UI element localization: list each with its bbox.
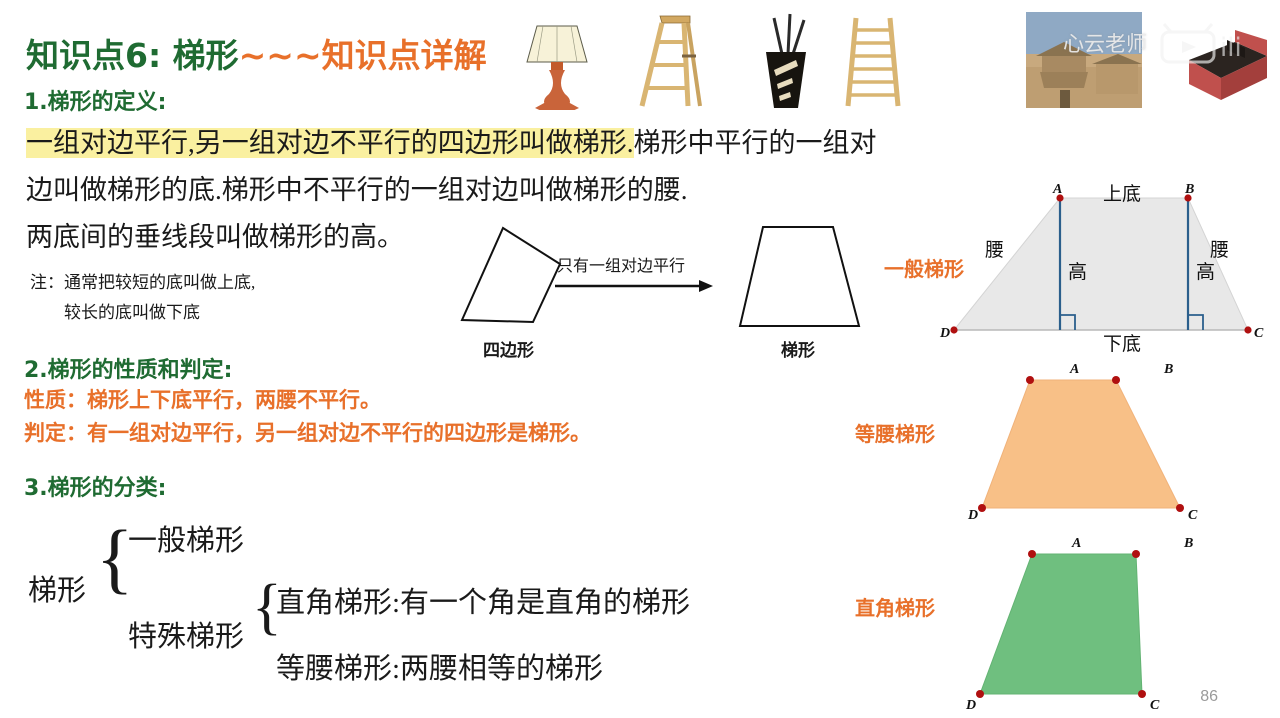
quadrilateral-figure — [455, 222, 605, 332]
page-number: 86 — [1200, 688, 1218, 706]
height-label-right: 高 — [1196, 257, 1215, 284]
vertex-label-b-gray: B — [1185, 182, 1194, 198]
tree-sub-right: 直角梯形:有一个角是直角的梯形 — [276, 579, 690, 621]
page-title: 知识点6: 梯形~~~知识点详解 — [26, 29, 487, 77]
definition-line-2: 边叫做梯形的底.梯形中不平行的一组对边叫做梯形的腰. — [26, 177, 688, 204]
property-line: 性质：梯形上下底平行，两腰不平行。 — [24, 384, 381, 414]
quadrilateral-caption: 四边形 — [483, 336, 534, 361]
watermark-text: 心云老师 — [1063, 28, 1147, 58]
vertex-label-a-orange: A — [1070, 362, 1079, 378]
note-line-2: 较长的底叫做下底 — [64, 298, 200, 323]
vertex-label-d-green: D — [966, 698, 976, 714]
isosceles-trapezoid-label: 等腰梯形 — [855, 418, 935, 447]
tree-branch-special: 特殊梯形 — [128, 613, 244, 655]
page-title-green: 知识点6: 梯形 — [26, 36, 239, 75]
table-lamp-photo — [513, 8, 601, 110]
tree-sub-isosceles: 等腰梯形:两腰相等的梯形 — [276, 645, 603, 687]
trapezoid-caption: 梯形 — [781, 336, 815, 361]
step-ladder-photo — [632, 10, 708, 110]
vertex-label-b-green: B — [1184, 536, 1193, 552]
vertex-label-c-green: C — [1150, 698, 1159, 714]
vertex-label-d-orange: D — [968, 508, 978, 524]
trapezoid-figure — [735, 222, 870, 334]
section-2-heading: 2.梯形的性质和判定: — [24, 352, 232, 384]
bottom-base-label: 下底 — [1103, 329, 1141, 356]
definition-line-1: 一组对边平行,另一组对边不平行的四边形叫做梯形.梯形中平行的一组对 — [26, 130, 877, 157]
top-base-label: 上底 — [1103, 179, 1141, 206]
vertex-label-d-gray: D — [940, 326, 950, 342]
vertex-label-a-green: A — [1072, 536, 1081, 552]
vertex-label-b-orange: B — [1164, 362, 1173, 378]
isosceles-trapezoid-figure — [948, 358, 1280, 522]
ladder-photo — [838, 10, 908, 110]
height-label-left: 高 — [1068, 257, 1087, 284]
note-line-1: 注：通常把较短的底叫做上底, — [30, 268, 255, 293]
svg-text:ili: ili — [1220, 33, 1242, 63]
classification-tree: 梯形 { 一般梯形 特殊梯形 { 直角梯形:有一个角是直角的梯形 等腰梯形:两腰… — [24, 505, 724, 705]
definition-highlight: 一组对边平行,另一组对边不平行的四边形叫做梯形. — [26, 128, 634, 158]
leg-label-left: 腰 — [985, 235, 1004, 262]
section-3-heading: 3.梯形的分类: — [24, 470, 166, 502]
definition-line-1-rest: 梯形中平行的一组对 — [634, 128, 877, 158]
right-trapezoid-label: 直角梯形 — [855, 592, 935, 621]
criterion-line: 判定：有一组对边平行，另一组对边不平行的四边形是梯形。 — [24, 417, 591, 447]
arrow-label: 只有一组对边平行 — [557, 252, 685, 276]
vertex-label-c-orange: C — [1188, 508, 1197, 524]
tree-branch-general: 一般梯形 — [128, 517, 244, 559]
vertex-label-c-gray: C — [1254, 326, 1263, 342]
ancient-building-photo — [1026, 12, 1142, 108]
section-1-heading: 1.梯形的定义: — [24, 84, 166, 116]
pen-holder-photo — [748, 12, 818, 110]
tree-root: 梯形 — [28, 567, 86, 609]
vertex-label-a-gray: A — [1053, 182, 1062, 198]
right-trapezoid-figure — [948, 532, 1280, 712]
bilibili-logo: ili — [1138, 22, 1256, 66]
page-title-orange: ~~~知识点详解 — [239, 36, 487, 75]
transform-arrow-icon — [555, 278, 715, 294]
definition-line-3: 两底间的垂线段叫做梯形的高。 — [26, 224, 404, 251]
